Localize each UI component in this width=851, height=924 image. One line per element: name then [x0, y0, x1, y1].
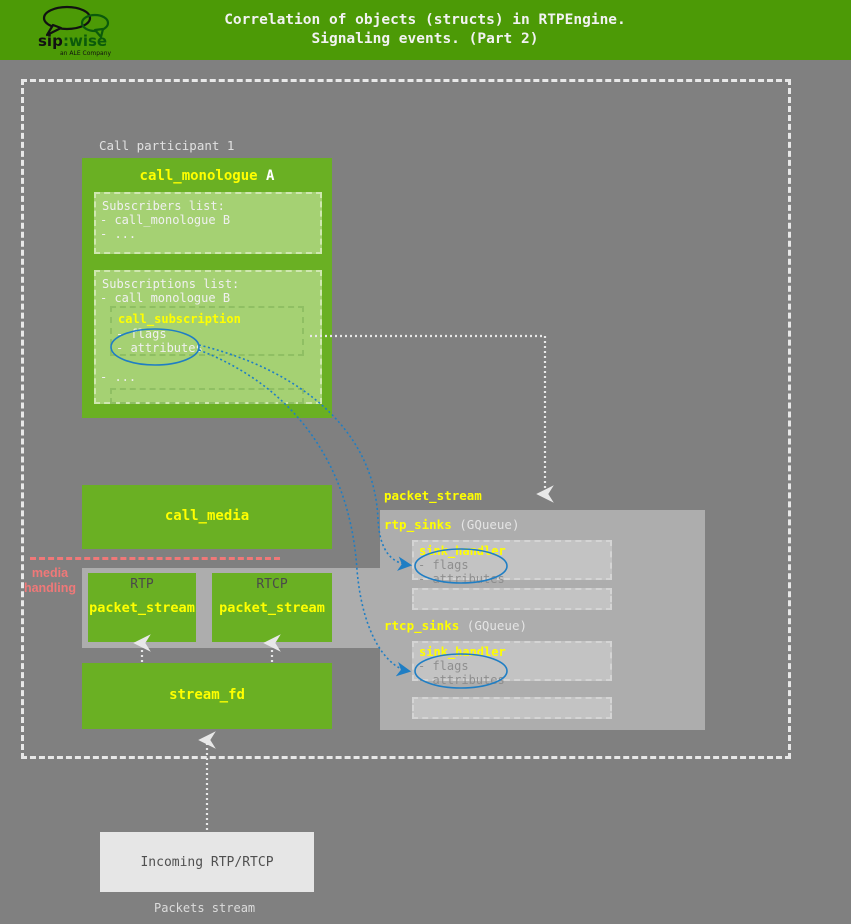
subscriptions-more: - ... — [100, 370, 136, 385]
subscriptions-list-panel: Subscriptions list: - call monologue B c… — [94, 270, 322, 404]
sipwise-logo: sip :wise an ALE Company — [33, 5, 133, 57]
call-participant-label: Call participant 1 — [99, 138, 234, 153]
rtp-sinks-label: rtp_sinks (GQueue) — [384, 517, 519, 532]
rtp-sink-handler-flags: - flags — [418, 558, 469, 573]
subscribers-heading: Subscribers list: — [102, 199, 225, 214]
rtp-packet-stream-label: packet_stream — [88, 600, 196, 616]
call-media-title: call_media — [82, 508, 332, 524]
rtp-sink-handler-title: sink_handler — [419, 544, 506, 558]
subscriptions-heading: Subscriptions list: — [102, 277, 239, 292]
subscribers-item-1: - ... — [100, 227, 136, 242]
call-subscription-empty-slot — [110, 388, 304, 404]
incoming-packets-box: Incoming RTP/RTCP — [100, 832, 314, 892]
packet-stream-label: packet_stream — [384, 488, 482, 503]
rtcp-sinks-name: rtcp_sinks — [384, 618, 459, 633]
rtcp-sink-handler-title: sink_handler — [419, 645, 506, 659]
rtp-packet-stream-box: RTP packet_stream — [88, 573, 196, 642]
call-media-box: call_media — [82, 485, 332, 549]
svg-text:sip: sip — [38, 32, 63, 50]
rtp-sink-handler-attributes: - attributes — [418, 572, 505, 587]
call-subscription-title: call_subscription — [118, 312, 241, 326]
title-line-1: Correlation of objects (structs) in RTPE… — [224, 12, 626, 28]
rtp-sinks-name: rtp_sinks — [384, 517, 452, 532]
rtcp-sink-empty-slot — [412, 697, 612, 719]
call-monologue-title-suffix: A — [266, 168, 274, 184]
subscriptions-item-0: - call monologue B — [100, 291, 230, 306]
call-subscription-field-flags: - flags — [116, 327, 167, 342]
rtcp-sink-handler-flags: - flags — [418, 659, 469, 674]
media-handling-label: media handling — [18, 566, 82, 596]
rtcp-sinks-kind: (GQueue) — [467, 618, 527, 633]
stream-fd-title: stream_fd — [82, 687, 332, 703]
page-header: sip :wise an ALE Company Correlation of … — [0, 0, 851, 60]
rtcp-packet-stream-label: packet_stream — [212, 600, 332, 616]
page-title: Correlation of objects (structs) in RTPE… — [200, 11, 650, 49]
rtp-sinks-kind: (GQueue) — [459, 517, 519, 532]
media-handling-divider — [30, 557, 280, 560]
rtcp-sink-handler-attributes: - attributes — [418, 673, 505, 688]
rtcp-kind-label: RTCP — [212, 577, 332, 592]
call-subscription-field-attributes: - attributes — [116, 341, 203, 356]
svg-text::wise: :wise — [63, 32, 107, 50]
stream-fd-box: stream_fd — [82, 663, 332, 729]
call-monologue-title: call_monologue A — [82, 168, 332, 184]
call-monologue-box: call_monologue A Subscribers list: - cal… — [82, 158, 332, 418]
call-monologue-title-text: call_monologue — [140, 168, 258, 184]
rtp-sink-empty-slot — [412, 588, 612, 610]
title-line-2: Signaling events. (Part 2) — [312, 31, 539, 47]
packets-stream-caption: Packets stream — [154, 901, 255, 915]
call-subscription-panel: call_subscription - flags - attributes — [110, 306, 304, 356]
rtp-kind-label: RTP — [88, 577, 196, 592]
diagram-canvas: sip :wise an ALE Company Correlation of … — [0, 0, 851, 924]
subscribers-item-0: - call_monologue B — [100, 213, 230, 228]
rtcp-packet-stream-box: RTCP packet_stream — [212, 573, 332, 642]
packet-stream-container: rtp_sinks (GQueue) sink_handler - flags … — [380, 510, 705, 730]
rtcp-sink-handler-slot: sink_handler - flags - attributes — [412, 641, 612, 681]
rtp-sink-handler-slot: sink_handler - flags - attributes — [412, 540, 612, 580]
subscribers-list-panel: Subscribers list: - call_monologue B - .… — [94, 192, 322, 254]
incoming-packets-label: Incoming RTP/RTCP — [100, 855, 314, 870]
svg-text:an ALE Company: an ALE Company — [60, 50, 112, 57]
rtcp-sinks-label: rtcp_sinks (GQueue) — [384, 618, 527, 633]
